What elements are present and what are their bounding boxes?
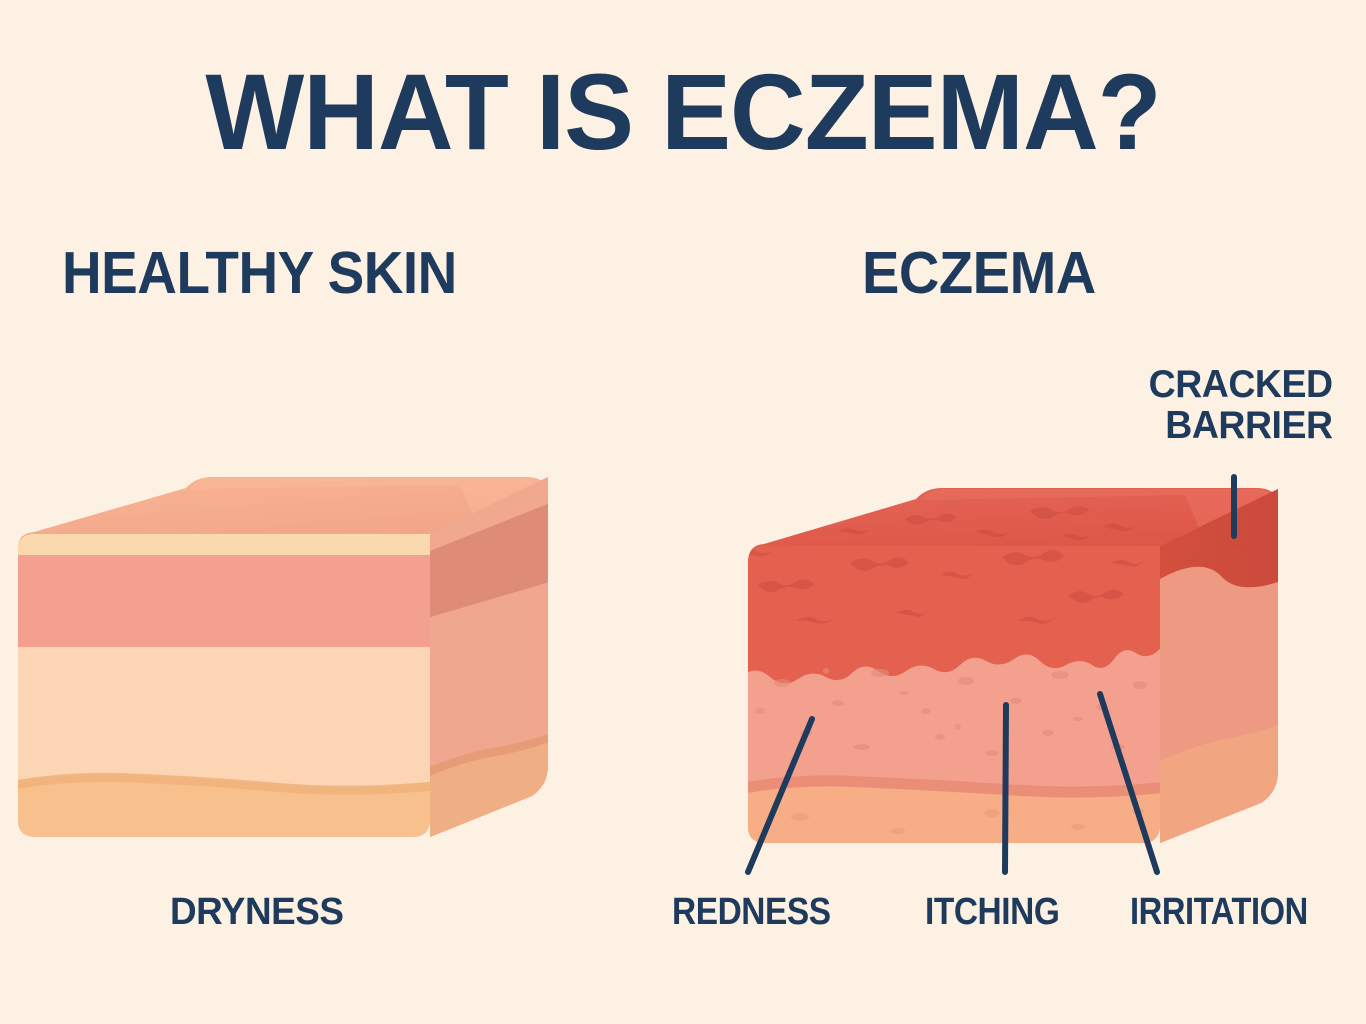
redness-leader-line xyxy=(748,719,812,872)
irritation-label: IRRITATION xyxy=(1130,893,1308,931)
irritation-leader-line xyxy=(1100,694,1157,872)
itching-leader-line xyxy=(1005,705,1006,872)
healthy-skin-heading: HEALTHY SKIN xyxy=(62,244,457,303)
callout-leader-lines xyxy=(700,440,1366,920)
cracked-barrier-label: CRACKED BARRIER xyxy=(1148,364,1332,447)
redness-label: REDNESS xyxy=(672,893,831,931)
cracked-barrier-line-1: CRACKED xyxy=(1148,364,1332,405)
cracked-barrier-line-2: BARRIER xyxy=(1148,405,1332,446)
page-title: WHAT IS ECZEMA? xyxy=(20,58,1345,166)
eczema-heading: ECZEMA xyxy=(862,244,1096,303)
dryness-label: DRYNESS xyxy=(170,893,343,931)
itching-label: ITCHING xyxy=(925,893,1059,931)
infographic-canvas: WHAT IS ECZEMA? HEALTHY SKIN ECZEMA xyxy=(0,0,1366,1024)
healthy-skin-block-diagram xyxy=(0,455,600,875)
healthy-front-face xyxy=(0,515,460,875)
